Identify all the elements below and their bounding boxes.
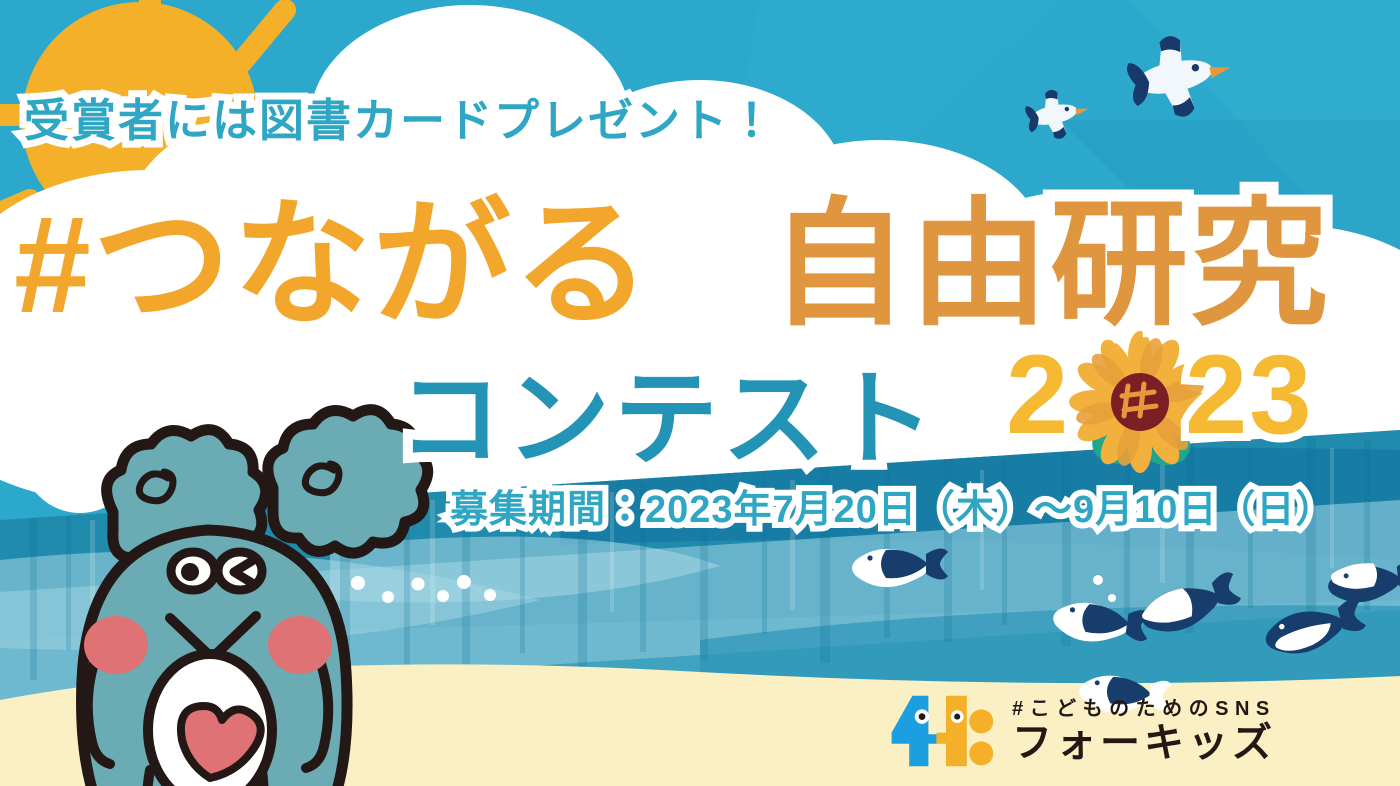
- logo-tagline: #こどものためのSNS: [1012, 698, 1276, 720]
- poster-root: 受賞者には図書カードプレゼント！ 受賞者には図書カードプレゼント！ #つながる …: [0, 0, 1400, 786]
- tagline-fill: 受賞者には図書カードプレゼント！: [24, 84, 776, 149]
- headline-contest-fill: コンテスト: [398, 334, 938, 485]
- four-kids-logo-text: #こどものためのSNS フォーキッズ: [1012, 698, 1276, 764]
- four-kids-logo[interactable]: #こどものためのSNS フォーキッズ: [890, 692, 1276, 770]
- logo-name: フォーキッズ: [1012, 722, 1276, 764]
- headline-hashtag-fill: #つながる: [14, 152, 653, 352]
- headline-topic-fill: 自由研究: [770, 152, 1330, 352]
- year-suffix-fill: 23: [1185, 330, 1314, 459]
- year-prefix-fill: 2: [1006, 330, 1070, 459]
- date-range-fill: 募集期間：2023年7月20日（木）〜9月10日（日）: [450, 478, 1334, 533]
- four-kids-logo-mark: [890, 692, 994, 770]
